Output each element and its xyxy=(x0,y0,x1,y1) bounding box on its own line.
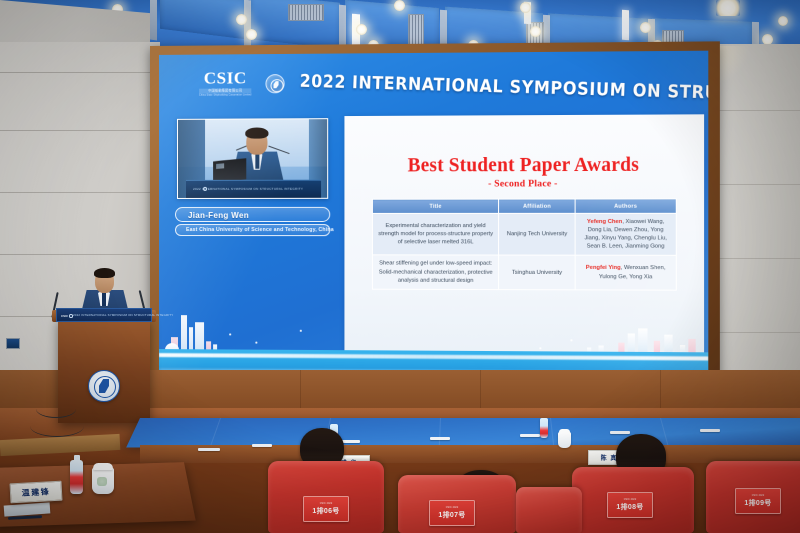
audience-chair xyxy=(516,487,582,533)
live-video-tile: 2022 INTERNATIONAL SYMPOSIUM ON STRUCTUR… xyxy=(177,118,328,199)
column-header-authors: Authors xyxy=(575,199,676,213)
csic-circular-emblem-icon xyxy=(265,74,284,93)
university-shield-emblem-icon xyxy=(88,370,120,402)
podium-banner-text: 2022 INTERNATIONAL SYMPOSIUM ON STRUCTUR… xyxy=(73,313,173,317)
water-bottle xyxy=(540,418,548,438)
award-subtitle: - Second Place - xyxy=(344,179,704,190)
table-placard-name: 陈 真 xyxy=(601,453,618,462)
table-pen xyxy=(520,434,540,437)
water-bottle xyxy=(70,460,83,494)
paper-title: Shear stiffening gel under low-speed imp… xyxy=(372,255,499,289)
table-row: Shear stiffening gel under low-speed imp… xyxy=(372,255,676,290)
chair-number-tag: CSIC 2022 1排09号 xyxy=(735,488,781,514)
csic-logo: CSIC 中国船舶集团有限公司 China State Shipbuilding… xyxy=(199,69,251,97)
column-header-title: Title xyxy=(372,199,499,213)
lead-author: Pengfei Ying xyxy=(586,265,621,271)
table-pen xyxy=(198,448,220,451)
laptop-icon xyxy=(213,158,246,182)
paper-authors: Yefeng Chen, Xiaowei Wang, Dong Lia, Dew… xyxy=(575,213,676,255)
paper-authors: Pengfei Ying, Wenxuan Shen, Yulong Ge, Y… xyxy=(575,256,676,290)
chair-tag-number: 1排09号 xyxy=(744,498,771,508)
chair-tag-number: 1排07号 xyxy=(438,510,465,520)
chair-number-tag: CSIC 2022 1排08号 xyxy=(607,492,653,518)
podium-banner-logo: CSIC xyxy=(61,314,68,318)
symposium-banner-title: 2022 INTERNATIONAL SYMPOSIUM ON STRUCTUR… xyxy=(299,71,708,103)
column-header-affiliation: Affiliation xyxy=(499,199,575,213)
conference-hall-photo: CSIC 中国船舶集团有限公司 China State Shipbuilding… xyxy=(0,0,800,533)
chair-tag-number: 1排08号 xyxy=(616,502,643,512)
table-row: Experimental characterization and yield … xyxy=(372,213,676,255)
audience-table xyxy=(126,418,800,448)
chair-number-tag: CSIC 2022 1排06号 xyxy=(303,496,349,522)
lead-author: Yefeng Chen xyxy=(587,219,622,225)
table-pen xyxy=(610,431,630,434)
front-name-placard: 温建锋 xyxy=(10,481,63,504)
speaker-nameplate: Jian-Feng Wen xyxy=(175,207,330,222)
csic-logo-text: CSIC xyxy=(199,69,251,86)
projection-screen: CSIC 中国船舶集团有限公司 China State Shipbuilding… xyxy=(159,51,708,388)
floor-cable xyxy=(30,415,84,437)
paper-title: Experimental characterization and yield … xyxy=(372,213,499,255)
wall-panel-device xyxy=(6,338,20,349)
awards-table: Title Affiliation Authors Experimental c… xyxy=(372,198,677,290)
table-pen xyxy=(700,429,720,432)
paper-affiliation: Nanjing Tech University xyxy=(499,213,575,255)
tea-cup xyxy=(558,432,571,448)
speaker-name: Jian-Feng Wen xyxy=(188,211,249,220)
slide-banner-header: CSIC 中国船舶集团有限公司 China State Shipbuilding… xyxy=(159,51,708,115)
table-pen xyxy=(252,444,272,447)
speaker-affiliation: East China University of Science and Tec… xyxy=(186,227,334,233)
award-title: Best Student Paper Awards xyxy=(355,153,693,177)
speaker-affiliation-plate: East China University of Science and Tec… xyxy=(175,224,330,236)
paper-affiliation: Tsinghua University xyxy=(499,255,575,289)
projection-screen-frame: CSIC 中国船舶集团有限公司 China State Shipbuilding… xyxy=(150,41,720,400)
table-header-row: Title Affiliation Authors xyxy=(372,199,676,213)
podium-banner: CSIC 2022 INTERNATIONAL SYMPOSIUM ON STR… xyxy=(56,308,152,322)
tea-cup xyxy=(92,468,114,494)
table-front-edge xyxy=(140,445,800,463)
video-caption-bar-text: 2022 INTERNATIONAL SYMPOSIUM ON STRUCTUR… xyxy=(193,186,303,190)
table-pen xyxy=(430,437,450,440)
chair-number-tag: CSIC 2022 1排07号 xyxy=(429,500,475,526)
ceiling-vent xyxy=(288,4,324,21)
front-placard-name: 温建锋 xyxy=(21,486,50,498)
chair-tag-number: 1排06号 xyxy=(312,506,339,516)
csic-logo-english: China State Shipbuilding Corporation Lim… xyxy=(199,94,251,97)
